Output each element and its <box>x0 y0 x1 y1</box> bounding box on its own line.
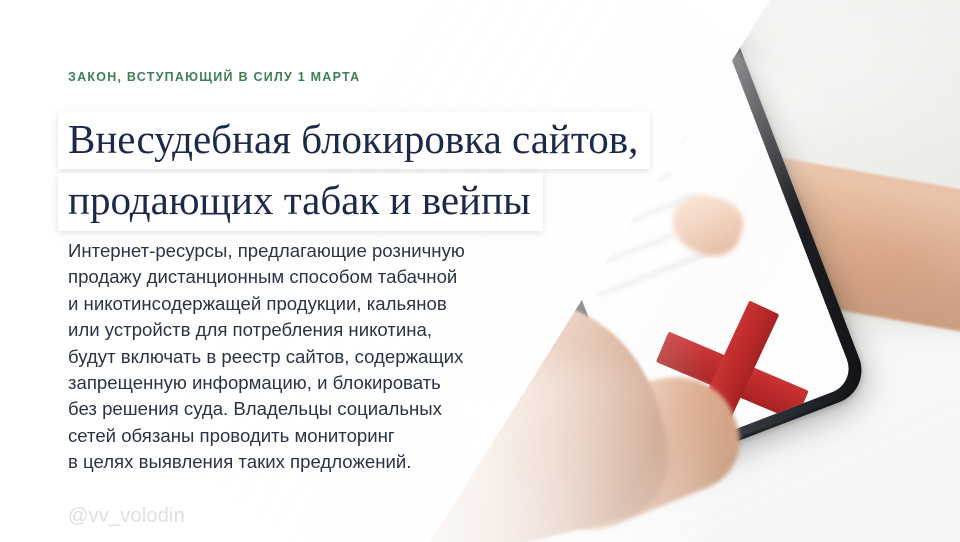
body-line: или устройств для потребления никотина, <box>68 317 538 343</box>
body-line: в целях выявления таких предложений. <box>68 449 538 475</box>
eyebrow-label: ЗАКОН, ВСТУПАЮЩИЙ В СИЛУ 1 МАРТА <box>68 70 360 84</box>
body-line: будут включать в реестр сайтов, содержащ… <box>68 344 538 370</box>
poster-canvas: 10:58 ••• ← <box>0 0 960 542</box>
title-line: продающих табак и вейпы <box>58 173 543 230</box>
body-line: продажу дистанционным способом табачной <box>68 264 538 290</box>
title-line: Внесудебная блокировка сайтов, <box>58 112 650 169</box>
body-line: и никотинсодержащей продукции, кальянов <box>68 291 538 317</box>
body-line: без решения суда. Владельцы социальных <box>68 396 538 422</box>
account-watermark: @vv_volodin <box>68 505 185 528</box>
body-paragraph: Интернет-ресурсы, предлагающие розничную… <box>68 238 538 476</box>
body-line: сетей обязаны проводить мониторинг <box>68 423 538 449</box>
body-line: запрещенную информацию, и блокировать <box>68 370 538 396</box>
body-line: Интернет-ресурсы, предлагающие розничную <box>68 238 538 264</box>
page-title: Внесудебная блокировка сайтов, продающих… <box>58 112 650 231</box>
